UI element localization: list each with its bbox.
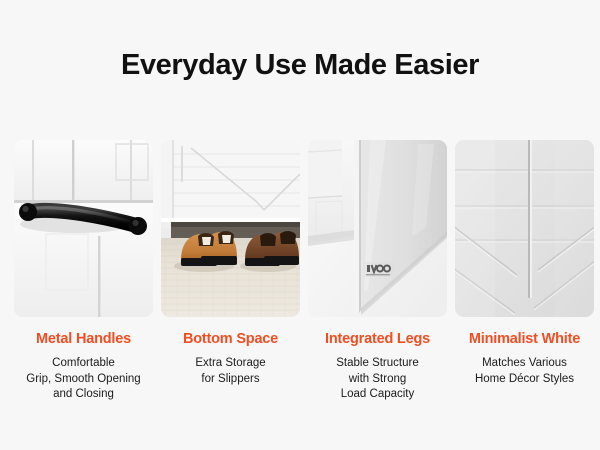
white-chevron-panel-texture-photo	[455, 140, 594, 317]
feature-card: Metal Handles Comfortable Grip, Smooth O…	[14, 140, 153, 403]
card-description: Extra Storage for Slippers	[156, 356, 306, 387]
feature-card: Integrated Legs Stable Structure with St…	[308, 140, 447, 403]
bottom-space-photo-art	[161, 140, 300, 317]
feature-card: Bottom Space Extra Storage for Slippers	[161, 140, 300, 403]
leg-photo-art	[308, 140, 447, 317]
cabinet-door-black-metal-handle-photo	[14, 140, 153, 317]
product-feature-banner: Everyday Use Made Easier	[0, 0, 600, 450]
card-heading: Integrated Legs	[325, 331, 430, 348]
chevron-panel-art	[455, 140, 594, 317]
card-description: Comfortable Grip, Smooth Opening and Clo…	[9, 356, 159, 403]
shoes-under-cabinet-bottom-gap-photo	[161, 140, 300, 317]
handle-photo-art	[14, 140, 153, 317]
card-description: Stable Structure with Strong Load Capaci…	[303, 356, 453, 403]
card-description: Matches Various Home Décor Styles	[450, 356, 600, 387]
cabinet-integrated-leg-closeup-photo	[308, 140, 447, 317]
page-title: Everyday Use Made Easier	[0, 48, 600, 82]
card-heading: Metal Handles	[36, 331, 131, 348]
feature-card-list: Metal Handles Comfortable Grip, Smooth O…	[14, 140, 586, 403]
brand-logo-sticker	[364, 262, 394, 277]
card-heading: Minimalist White	[469, 331, 580, 348]
feature-card: Minimalist White Matches Various Home Dé…	[455, 140, 594, 403]
card-heading: Bottom Space	[183, 331, 278, 348]
